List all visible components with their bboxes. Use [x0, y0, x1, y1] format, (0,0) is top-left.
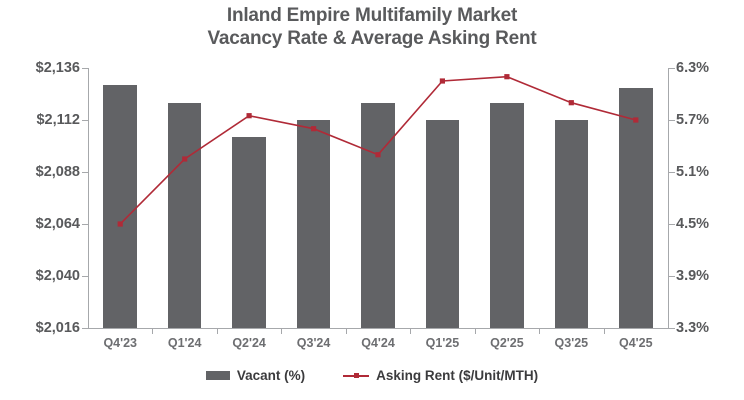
y-axis-right-tick [669, 172, 675, 173]
y-axis-right-tick-label: 6.3% [676, 60, 709, 76]
x-axis-tick-label: Q4'25 [619, 336, 653, 350]
y-axis-right-line [668, 68, 669, 329]
y-axis-left-tick [82, 172, 88, 173]
y-axis-left-tick-label: $2,040 [36, 268, 80, 284]
legend-bar-swatch-icon [206, 371, 230, 380]
bar [361, 103, 395, 328]
x-axis-tick [539, 328, 540, 334]
y-axis-left-tick-label: $2,088 [36, 164, 80, 180]
legend-label-asking-rent: Asking Rent ($/Unit/MTH) [376, 368, 538, 383]
line-marker [504, 74, 509, 79]
y-axis-right-tick-label: 3.3% [676, 320, 709, 336]
x-axis-tick-label: Q4'24 [361, 336, 395, 350]
y-axis-left-line [88, 68, 89, 329]
y-axis-right-tick [669, 68, 675, 69]
chart-title: Inland Empire Multifamily Market Vacancy… [0, 4, 744, 50]
y-axis-left-tick [82, 68, 88, 69]
x-axis-tick-label: Q2'24 [232, 336, 266, 350]
x-axis-tick-label: Q3'25 [555, 336, 589, 350]
y-axis-left-tick-label: $2,016 [36, 320, 80, 336]
x-axis-tick [152, 328, 153, 334]
x-axis-tick-label: Q1'25 [426, 336, 460, 350]
chart-legend: Vacant (%) Asking Rent ($/Unit/MTH) [0, 368, 744, 383]
line-marker [247, 113, 252, 118]
bar [297, 120, 331, 328]
x-axis-tick [217, 328, 218, 334]
legend-label-vacant: Vacant (%) [237, 368, 305, 383]
x-axis-tick [281, 328, 282, 334]
y-axis-right-tick-label: 5.1% [676, 164, 709, 180]
x-axis-tick [410, 328, 411, 334]
bar [426, 120, 460, 328]
x-axis-tick [604, 328, 605, 334]
legend-item-asking-rent[interactable]: Asking Rent ($/Unit/MTH) [343, 368, 538, 383]
combo-chart: Inland Empire Multifamily Market Vacancy… [0, 0, 744, 400]
chart-title-line-2: Vacancy Rate & Average Asking Rent [0, 27, 744, 50]
y-axis-left-tick [82, 120, 88, 121]
legend-item-vacant[interactable]: Vacant (%) [206, 368, 305, 383]
legend-line-swatch-icon [343, 371, 369, 380]
y-axis-right-tick [669, 224, 675, 225]
bar [555, 120, 589, 328]
bar [619, 88, 653, 329]
x-axis-line [88, 328, 669, 329]
y-axis-left-tick-label: $2,064 [36, 216, 80, 232]
y-axis-left-tick-label: $2,112 [36, 112, 80, 128]
line-marker [569, 100, 574, 105]
chart-title-line-1: Inland Empire Multifamily Market [0, 4, 744, 27]
y-axis-left-tick [82, 328, 88, 329]
bar [103, 85, 137, 328]
y-axis-right-tick [669, 120, 675, 121]
x-axis-tick [475, 328, 476, 334]
y-axis-left-tick-label: $2,136 [36, 60, 80, 76]
y-axis-right-tick-label: 5.7% [676, 112, 709, 128]
y-axis-left-tick [82, 224, 88, 225]
y-axis-right-tick-label: 4.5% [676, 216, 709, 232]
x-axis-tick-label: Q3'24 [297, 336, 331, 350]
y-axis-left-tick [82, 276, 88, 277]
x-axis-tick-label: Q2'25 [490, 336, 524, 350]
bar [168, 103, 202, 328]
bar [232, 137, 266, 328]
x-axis-tick-label: Q1'24 [168, 336, 202, 350]
y-axis-right-tick [669, 276, 675, 277]
bar [490, 103, 524, 328]
y-axis-right-tick [669, 328, 675, 329]
line-marker [440, 78, 445, 83]
x-axis-tick-label: Q4'23 [103, 336, 137, 350]
y-axis-right-tick-label: 3.9% [676, 268, 709, 284]
x-axis-tick [346, 328, 347, 334]
